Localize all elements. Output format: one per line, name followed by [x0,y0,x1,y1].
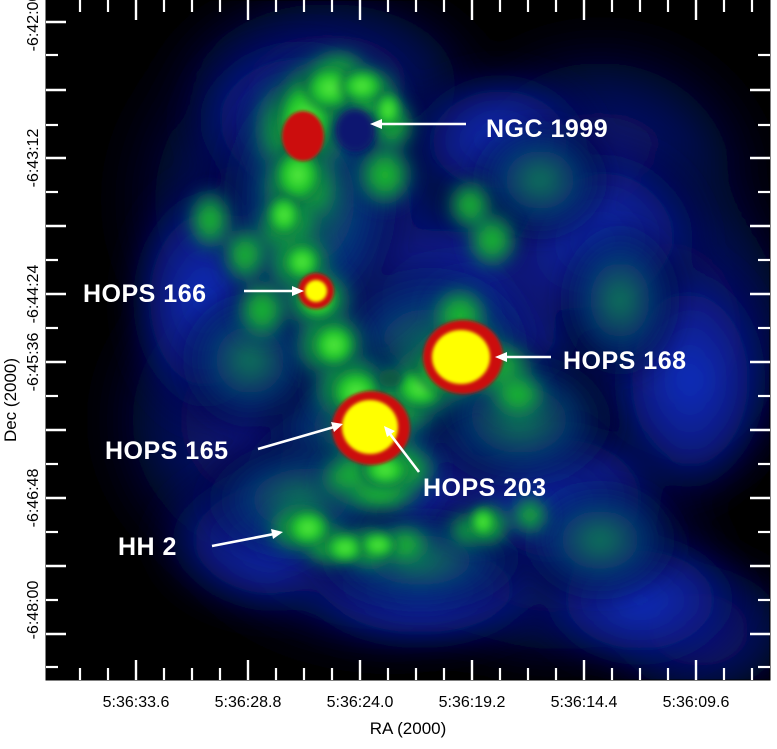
y-axis-title: Dec (2000) [1,358,20,442]
annotation-label-hops-165: HOPS 165 [105,437,229,465]
annotation-label-hh-2: HH 2 [118,533,177,561]
annotation-label-hops-168: HOPS 168 [563,347,687,375]
x-tick-label-2: 5:36:24.0 [327,694,394,711]
x-tick-label-0: 5:36:33.6 [103,694,170,711]
astronomical-map-figure: -6:42:00 -6:43:12 -6:44:24 -6:45:36 -6:4… [0,0,777,744]
y-tick-label-4: -6:46:48 [25,469,42,528]
y-tick-label-1: -6:43:12 [25,129,42,188]
y-tick-label-5: -6:48:00 [25,581,42,640]
annotation-label-hops-203: HOPS 203 [423,474,547,502]
source-hops-165 [332,391,410,465]
source-hops-168 [423,320,503,394]
x-tick-label-4: 5:36:14.4 [551,694,618,711]
x-tick-label-5: 5:36:09.6 [663,694,730,711]
y-tick-label-0: -6:42:00 [25,0,42,51]
x-axis-title: RA (2000) [370,719,447,738]
y-tick-label-2: -6:44:24 [25,265,42,324]
y-tick-label-3: -6:45:36 [25,333,42,392]
figure-svg: -6:42:00 -6:43:12 -6:44:24 -6:45:36 -6:4… [0,0,777,744]
x-tick-label-1: 5:36:28.8 [215,694,282,711]
annotation-label-hops-166: HOPS 166 [83,280,207,308]
dark-knot-central [379,369,401,387]
x-tick-label-3: 5:36:19.2 [439,694,506,711]
source-ngc-1999 [282,111,324,161]
dark-gap-ngc1999 [335,108,375,152]
annotation-label-ngc-1999: NGC 1999 [486,115,608,143]
